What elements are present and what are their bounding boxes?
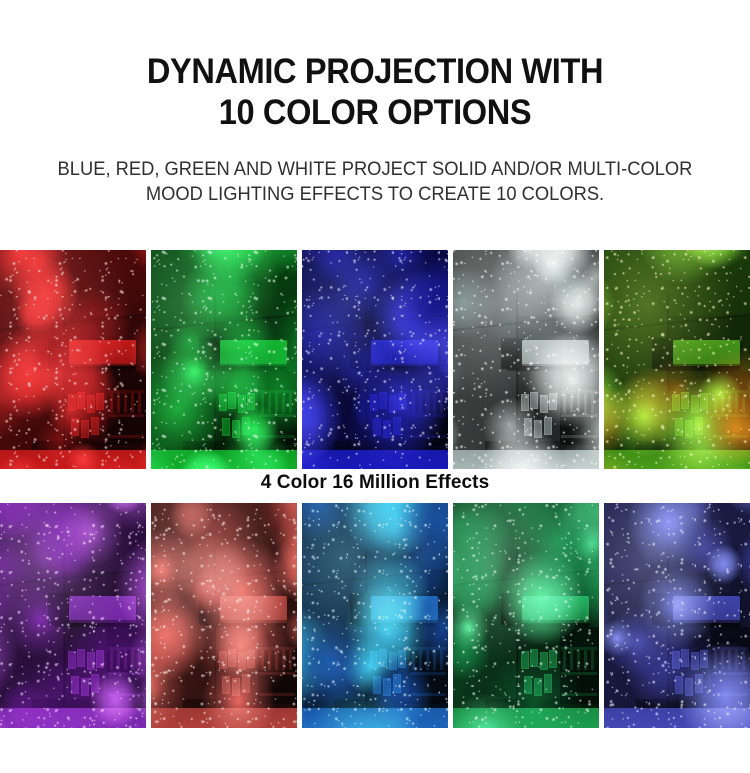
- ambient-glow: [302, 250, 448, 469]
- photo-row-multi-colors: [0, 503, 750, 728]
- subtitle-line-2: MOOD LIGHTING EFFECTS TO CREATE 10 COLOR…: [23, 182, 728, 207]
- ambient-glow: [302, 503, 448, 728]
- ambient-glow: [604, 503, 750, 728]
- photo-tile-blue-cyan: [302, 503, 448, 728]
- ambient-glow: [0, 503, 146, 728]
- photo-tile-red: [0, 250, 146, 469]
- ambient-glow: [453, 503, 599, 728]
- ambient-glow: [151, 250, 297, 469]
- subtitle-line-1: BLUE, RED, GREEN AND WHITE PROJECT SOLID…: [58, 158, 693, 180]
- photo-tile-blue: [302, 250, 448, 469]
- headline-line-2: 10 COLOR OPTIONS: [26, 92, 724, 133]
- photo-tile-blue-violet: [604, 503, 750, 728]
- gallery-caption: 4 Color 16 Million Effects: [0, 472, 750, 494]
- photo-tile-green-white: [453, 503, 599, 728]
- photo-tile-red-white: [151, 503, 297, 728]
- ambient-glow: [453, 250, 599, 469]
- photo-tile-white: [453, 250, 599, 469]
- photo-tile-green-orange: [604, 250, 750, 469]
- photo-row-solid-colors: [0, 250, 750, 469]
- photo-tile-purple: [0, 503, 146, 728]
- page-title: DYNAMIC PROJECTION WITH 10 COLOR OPTIONS: [26, 23, 724, 133]
- photo-tile-green: [151, 250, 297, 469]
- ambient-glow: [151, 503, 297, 728]
- product-feature-page: DYNAMIC PROJECTION WITH 10 COLOR OPTIONS…: [0, 23, 750, 773]
- ambient-glow: [0, 250, 146, 469]
- ambient-glow: [604, 250, 750, 469]
- page-subtitle: BLUE, RED, GREEN AND WHITE PROJECT SOLID…: [23, 157, 728, 207]
- headline-line-1: DYNAMIC PROJECTION WITH: [147, 52, 603, 91]
